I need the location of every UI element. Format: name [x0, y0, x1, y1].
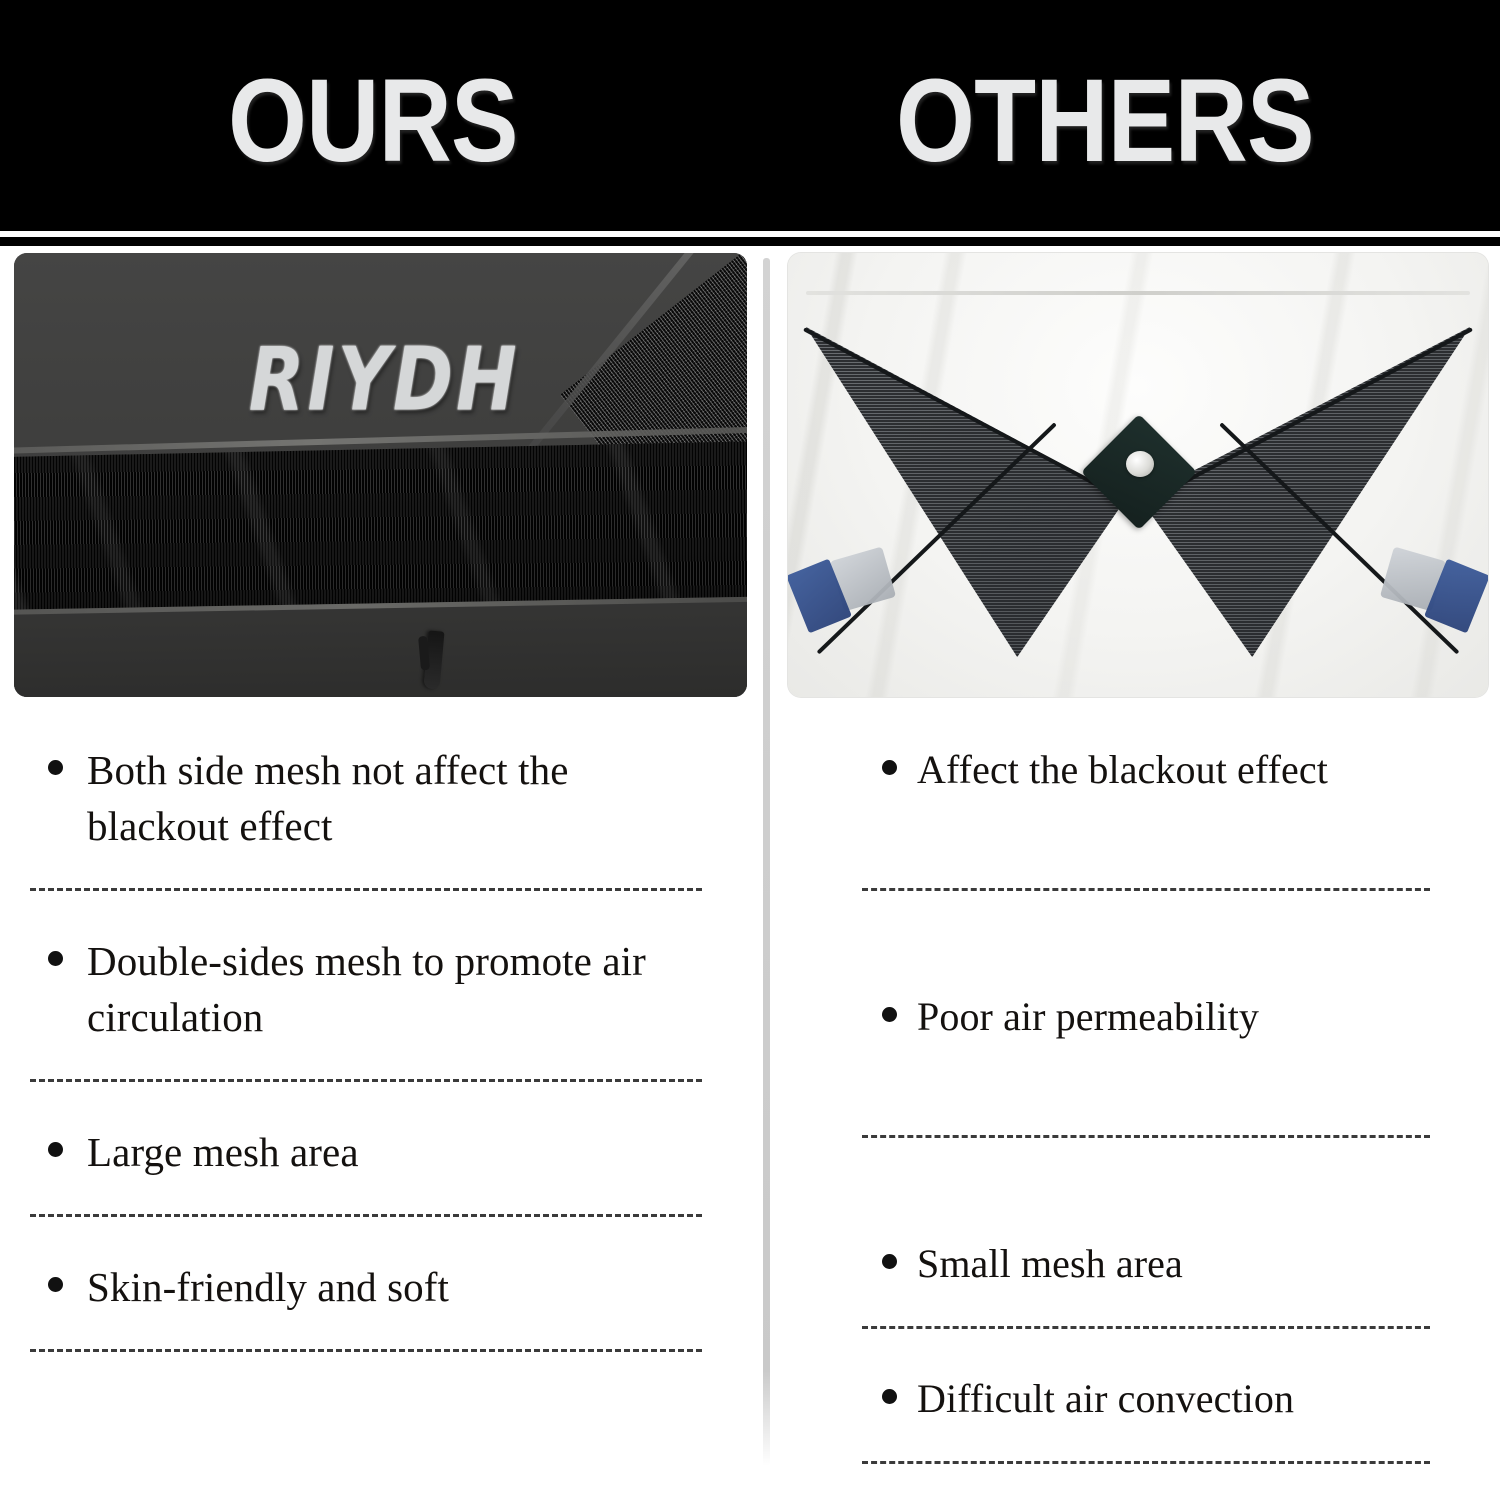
spacer — [862, 1292, 1462, 1326]
list-item: Skin-friendly and soft — [30, 1259, 720, 1315]
list-item-label: Double-sides mesh to promote air circula… — [87, 933, 720, 1045]
bullet-dot-icon — [48, 1142, 63, 1157]
center-vertical-divider — [763, 258, 770, 1466]
list-item: Large mesh area — [30, 1124, 720, 1180]
ours-mesh-wrinkles — [14, 441, 747, 617]
spacer — [862, 891, 1462, 989]
bullet-dot-icon — [882, 1254, 897, 1269]
list-divider — [862, 1461, 1430, 1464]
list-item-label: Both side mesh not affect the blackout e… — [87, 742, 720, 854]
bullet-dot-icon — [882, 1007, 897, 1022]
spacer — [862, 1138, 1462, 1236]
spacer — [30, 1315, 720, 1349]
list-item: Double-sides mesh to promote air circula… — [30, 933, 720, 1045]
others-top-seam — [806, 291, 1470, 295]
bullet-dot-icon — [48, 760, 63, 775]
others-center-knob-icon — [1126, 451, 1154, 477]
bullet-dot-icon — [882, 760, 897, 775]
spacer — [862, 1329, 1462, 1371]
others-product-photo — [788, 253, 1488, 697]
list-item-label: Difficult air convection — [917, 1371, 1294, 1427]
spacer — [30, 1045, 720, 1079]
bullet-dot-icon — [882, 1389, 897, 1404]
header-title-others: OTHERS — [896, 62, 1314, 180]
comparison-infographic: OURS OTHERS RIYDH — [0, 0, 1500, 1490]
list-item-label: Small mesh area — [917, 1236, 1183, 1292]
list-divider — [30, 1349, 702, 1352]
spacer — [30, 1217, 720, 1259]
header-title-group: OURS OTHERS — [0, 0, 1500, 231]
bullet-dot-icon — [48, 951, 63, 966]
spacer — [862, 1427, 1462, 1461]
list-item-label: Poor air permeability — [917, 989, 1259, 1045]
list-item: Poor air permeability — [862, 989, 1462, 1045]
spacer — [30, 891, 720, 933]
header-black-rule — [0, 237, 1500, 246]
ours-brand-logo-text: RIYDH — [249, 336, 520, 423]
spacer — [30, 1180, 720, 1214]
spacer — [30, 854, 720, 888]
ours-feature-list: Both side mesh not affect the blackout e… — [30, 742, 720, 1352]
spacer — [30, 1082, 720, 1124]
list-item: Small mesh area — [862, 1236, 1462, 1292]
list-item: Affect the blackout effect — [862, 742, 1462, 798]
list-item: Both side mesh not affect the blackout e… — [30, 742, 720, 854]
spacer — [862, 798, 1462, 888]
list-item-label: Affect the blackout effect — [917, 742, 1328, 798]
bullet-dot-icon — [48, 1277, 63, 1292]
list-item-label: Skin-friendly and soft — [87, 1259, 449, 1315]
ours-large-mesh-window — [14, 441, 747, 617]
others-feature-list: Affect the blackout effect Poor air perm… — [862, 742, 1462, 1464]
spacer — [862, 1045, 1462, 1135]
list-item-label: Large mesh area — [87, 1124, 359, 1180]
header-title-ours: OURS — [228, 62, 518, 180]
list-item: Difficult air convection — [862, 1371, 1462, 1427]
ours-product-photo: RIYDH — [14, 253, 747, 697]
